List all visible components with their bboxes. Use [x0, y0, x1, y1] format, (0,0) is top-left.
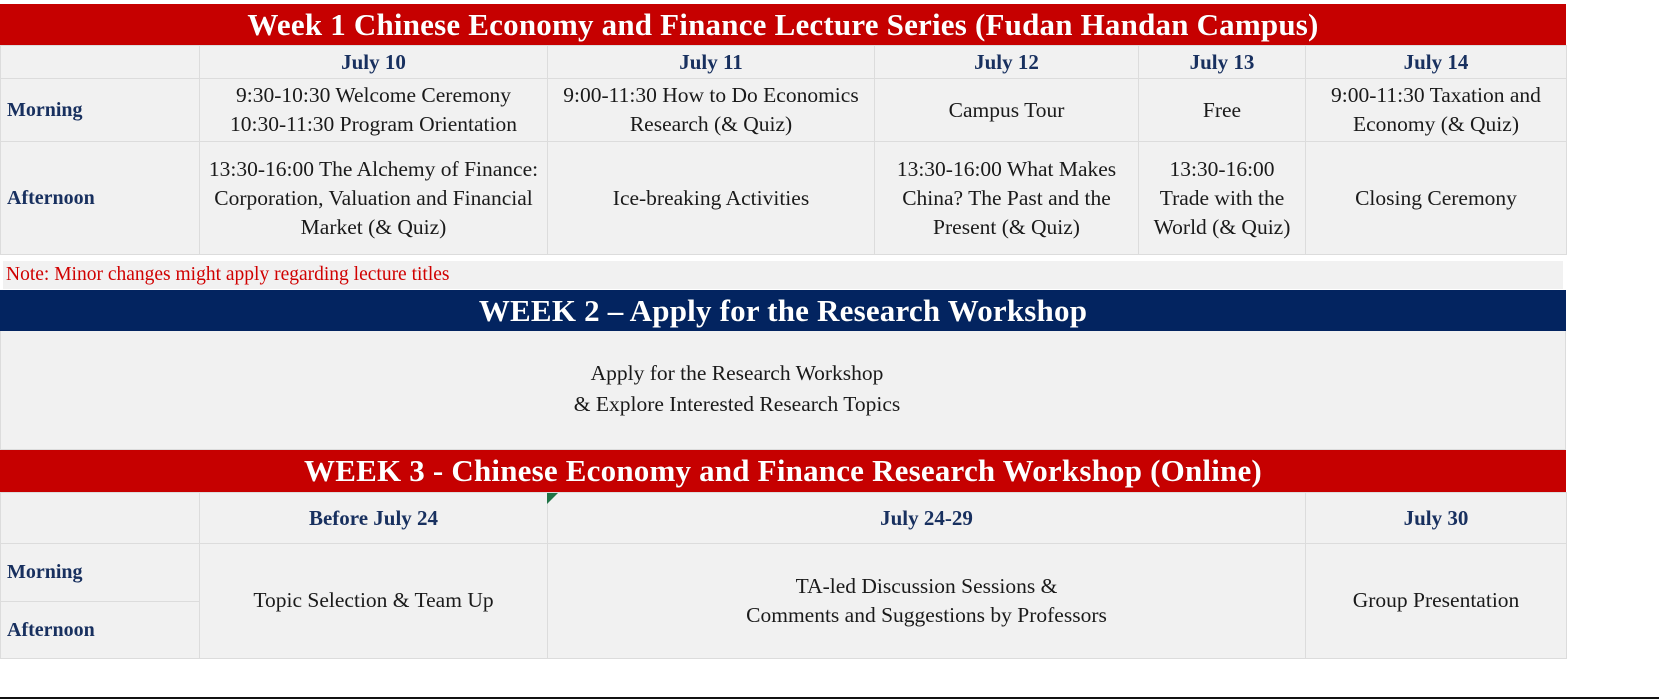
week3-discussion-line-1: TA-led Discussion Sessions & [554, 572, 1299, 601]
week3-schedule-table: Before July 24 July 24-29 July 30 Mornin… [0, 492, 1567, 659]
comment-indicator-icon[interactable] [547, 493, 558, 504]
week3-discussion-cell: TA-led Discussion Sessions & Comments an… [548, 544, 1306, 659]
week3-discussion-line-2: Comments and Suggestions by Professors [554, 601, 1299, 630]
week1-note: Note: Minor changes might apply regardin… [3, 261, 1563, 289]
week1-afternoon-label: Afternoon [1, 142, 200, 255]
week3-corner-cell [1, 493, 200, 544]
week1-schedule-table: July 10 July 11 July 12 July 13 July 14 … [0, 45, 1567, 255]
week3-morning-label: Morning [1, 544, 200, 602]
week3-header-row: Before July 24 July 24-29 July 30 [1, 493, 1567, 544]
week1-afternoon-july-13: 13:30-16:00 Trade with the World (& Quiz… [1139, 142, 1306, 255]
schedule-sheet: Week 1 Chinese Economy and Finance Lectu… [0, 0, 1659, 699]
week1-morning-july-12: Campus Tour [875, 79, 1139, 142]
week3-morning-row: Morning Topic Selection & Team Up TA-led… [1, 544, 1567, 602]
week1-morning-label: Morning [1, 79, 200, 142]
week1-header-row: July 10 July 11 July 12 July 13 July 14 [1, 46, 1567, 79]
week1-banner-title: Week 1 Chinese Economy and Finance Lectu… [0, 4, 1566, 45]
week1-afternoon-july-14: Closing Ceremony [1306, 142, 1567, 255]
week2-content-cell: Apply for the Research Workshop & Explor… [0, 331, 1566, 450]
week2-banner-title: WEEK 2 – Apply for the Research Workshop [0, 290, 1566, 331]
week1-date-july-14: July 14 [1306, 46, 1567, 79]
week1-afternoon-row: Afternoon 13:30-16:00 The Alchemy of Fin… [1, 142, 1567, 255]
week1-date-july-10: July 10 [200, 46, 548, 79]
week3-date-july-24-29: July 24-29 [548, 493, 1306, 544]
week1-date-july-11: July 11 [548, 46, 875, 79]
week1-date-july-13: July 13 [1139, 46, 1306, 79]
week3-topic-selection-cell: Topic Selection & Team Up [200, 544, 548, 659]
week1-morning-july-10: 9:30-10:30 Welcome Ceremony 10:30-11:30 … [200, 79, 548, 142]
week2-content-line-1: Apply for the Research Workshop [574, 358, 900, 389]
week3-banner-title: WEEK 3 - Chinese Economy and Finance Res… [0, 450, 1566, 492]
week1-corner-cell [1, 46, 200, 79]
week3-date-july-30: July 30 [1306, 493, 1567, 544]
week1-morning-row: Morning 9:30-10:30 Welcome Ceremony 10:3… [1, 79, 1567, 142]
week3-afternoon-label: Afternoon [1, 602, 200, 659]
week1-morning-july-11: 9:00-11:30 How to Do Economics Research … [548, 79, 875, 142]
week1-afternoon-july-12: 13:30-16:00 What Makes China? The Past a… [875, 142, 1139, 255]
week1-morning-july-13: Free [1139, 79, 1306, 142]
week1-date-july-12: July 12 [875, 46, 1139, 79]
week2-content-line-2: & Explore Interested Research Topics [574, 389, 900, 420]
week1-morning-july-14: 9:00-11:30 Taxation and Economy (& Quiz) [1306, 79, 1567, 142]
week3-date-before-july-24: Before July 24 [200, 493, 548, 544]
week1-afternoon-july-10: 13:30-16:00 The Alchemy of Finance: Corp… [200, 142, 548, 255]
week1-afternoon-july-11: Ice-breaking Activities [548, 142, 875, 255]
week3-group-presentation-cell: Group Presentation [1306, 544, 1567, 659]
